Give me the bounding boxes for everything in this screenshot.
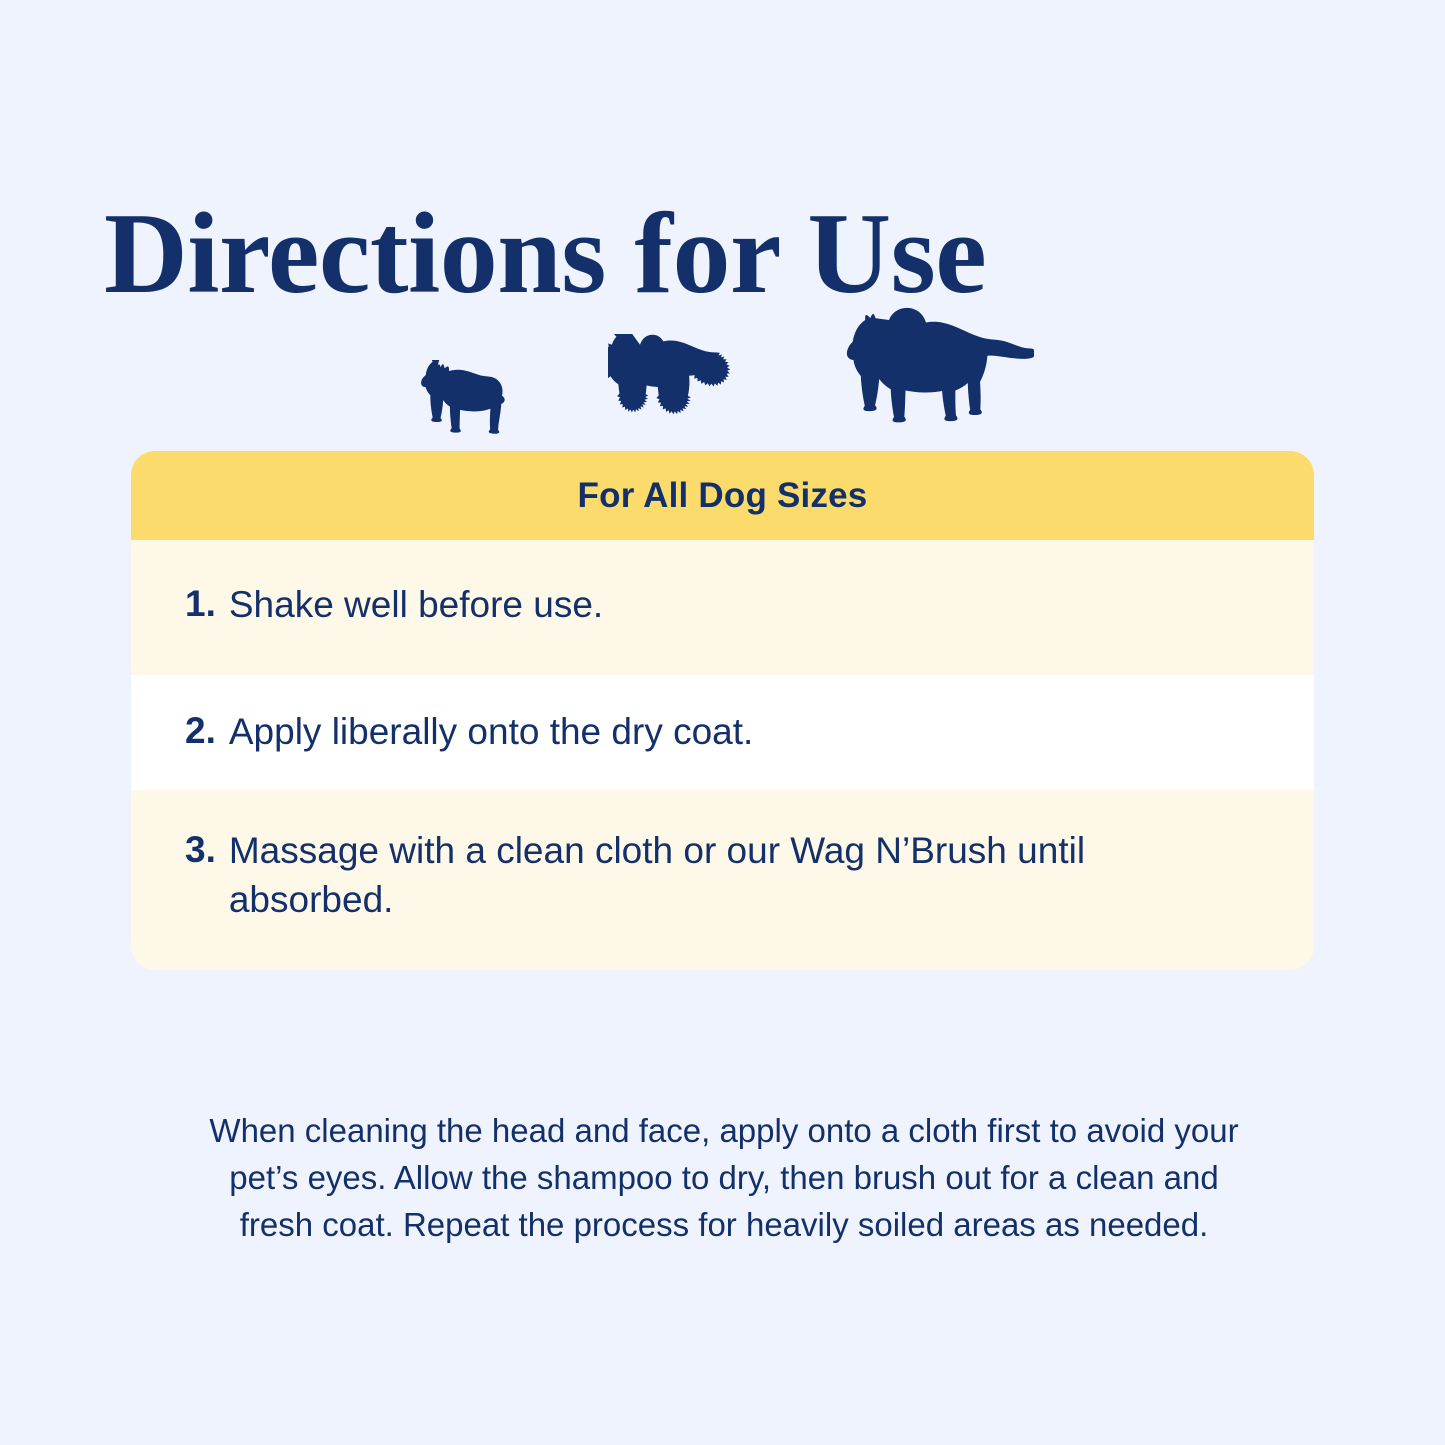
medium-dog-silhouette-icon [608, 334, 752, 438]
step-row: 2. Apply liberally onto the dry coat. [131, 675, 1314, 790]
dog-size-illustrations [0, 292, 1445, 438]
step-number: 2. [185, 707, 216, 755]
directions-for-use-page: Directions for Use For All Dog Sizes 1. … [0, 0, 1445, 1445]
small-dog-silhouette-icon [412, 360, 516, 438]
card-header: For All Dog Sizes [131, 451, 1314, 540]
footnote-text: When cleaning the head and face, apply o… [190, 1108, 1258, 1249]
directions-card: For All Dog Sizes 1. Shake well before u… [131, 451, 1314, 970]
step-text: Massage with a clean cloth or our Wag N’… [229, 826, 1249, 924]
step-number: 1. [185, 580, 216, 628]
card-header-title: For All Dog Sizes [578, 476, 868, 516]
step-text: Shake well before use. [229, 580, 1249, 629]
step-number: 3. [185, 826, 216, 874]
large-dog-silhouette-icon [844, 306, 1034, 438]
step-text: Apply liberally onto the dry coat. [229, 707, 1249, 756]
step-row: 1. Shake well before use. [131, 540, 1314, 675]
step-row: 3. Massage with a clean cloth or our Wag… [131, 790, 1314, 970]
